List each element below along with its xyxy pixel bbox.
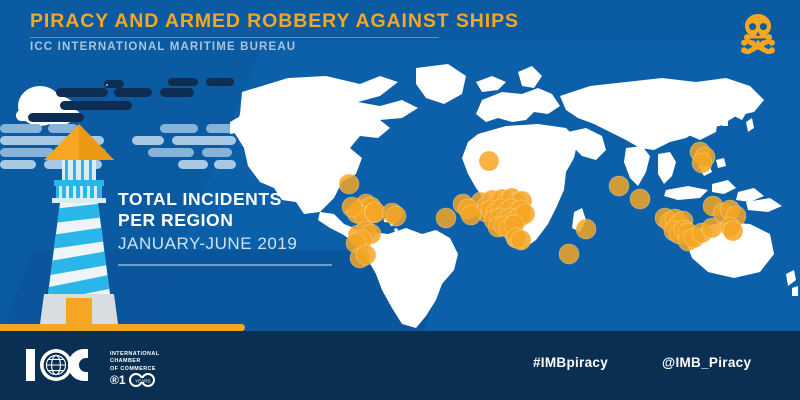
cloud-bar	[202, 148, 232, 157]
callout-block: TOTAL INCIDENTS PER REGION JANUARY-JUNE …	[118, 189, 332, 266]
cloud-bar	[160, 88, 194, 97]
callout-divider	[118, 264, 332, 266]
poster-footer: INTERNATIONAL CHAMBER OF COMMERCE ®1 YEA…	[0, 331, 800, 400]
twitter-handle-label: @IMB_Piracy	[662, 355, 751, 370]
icc-centenary-mark: ®1 YEARS	[110, 373, 162, 387]
page-subtitle: ICC INTERNATIONAL MARITIME BUREAU	[30, 41, 296, 53]
icc-subtitle-line-1: INTERNATIONAL	[110, 351, 159, 358]
icc-subtitle-line-2: CHAMBER	[110, 358, 159, 365]
title-divider	[30, 37, 439, 38]
callout-line-1: TOTAL INCIDENTS	[118, 189, 332, 210]
poster-header: PIRACY AND ARMED ROBBERY AGAINST SHIPS I…	[0, 0, 800, 62]
icc-logo-subtitle: INTERNATIONAL CHAMBER OF COMMERCE	[110, 351, 159, 373]
callout-line-3: JANUARY-JUNE 2019	[118, 232, 332, 255]
cloud-bar	[148, 148, 194, 157]
hashtag-label: #IMBpiracy	[533, 355, 608, 370]
cloud-bar	[172, 136, 236, 145]
cloud-bar	[160, 124, 198, 133]
cloud-bar	[106, 84, 108, 86]
svg-text:®1: ®1	[110, 373, 126, 387]
svg-text:YEARS: YEARS	[135, 379, 151, 384]
cloud-bar	[114, 88, 152, 97]
infographic-poster: PIRACY AND ARMED ROBBERY AGAINST SHIPS I…	[0, 0, 800, 400]
cloud-bar	[60, 101, 132, 110]
cloud-bar	[168, 78, 198, 86]
accent-bar	[0, 324, 245, 331]
cloud-bar	[56, 88, 108, 97]
icc-logo: INTERNATIONAL CHAMBER OF COMMERCE ®1 YEA…	[24, 343, 174, 387]
callout-line-2: PER REGION	[118, 210, 332, 231]
cloud-bar	[178, 160, 208, 169]
page-title: PIRACY AND ARMED ROBBERY AGAINST SHIPS	[30, 10, 519, 33]
skull-and-crossbones-icon	[738, 12, 778, 54]
